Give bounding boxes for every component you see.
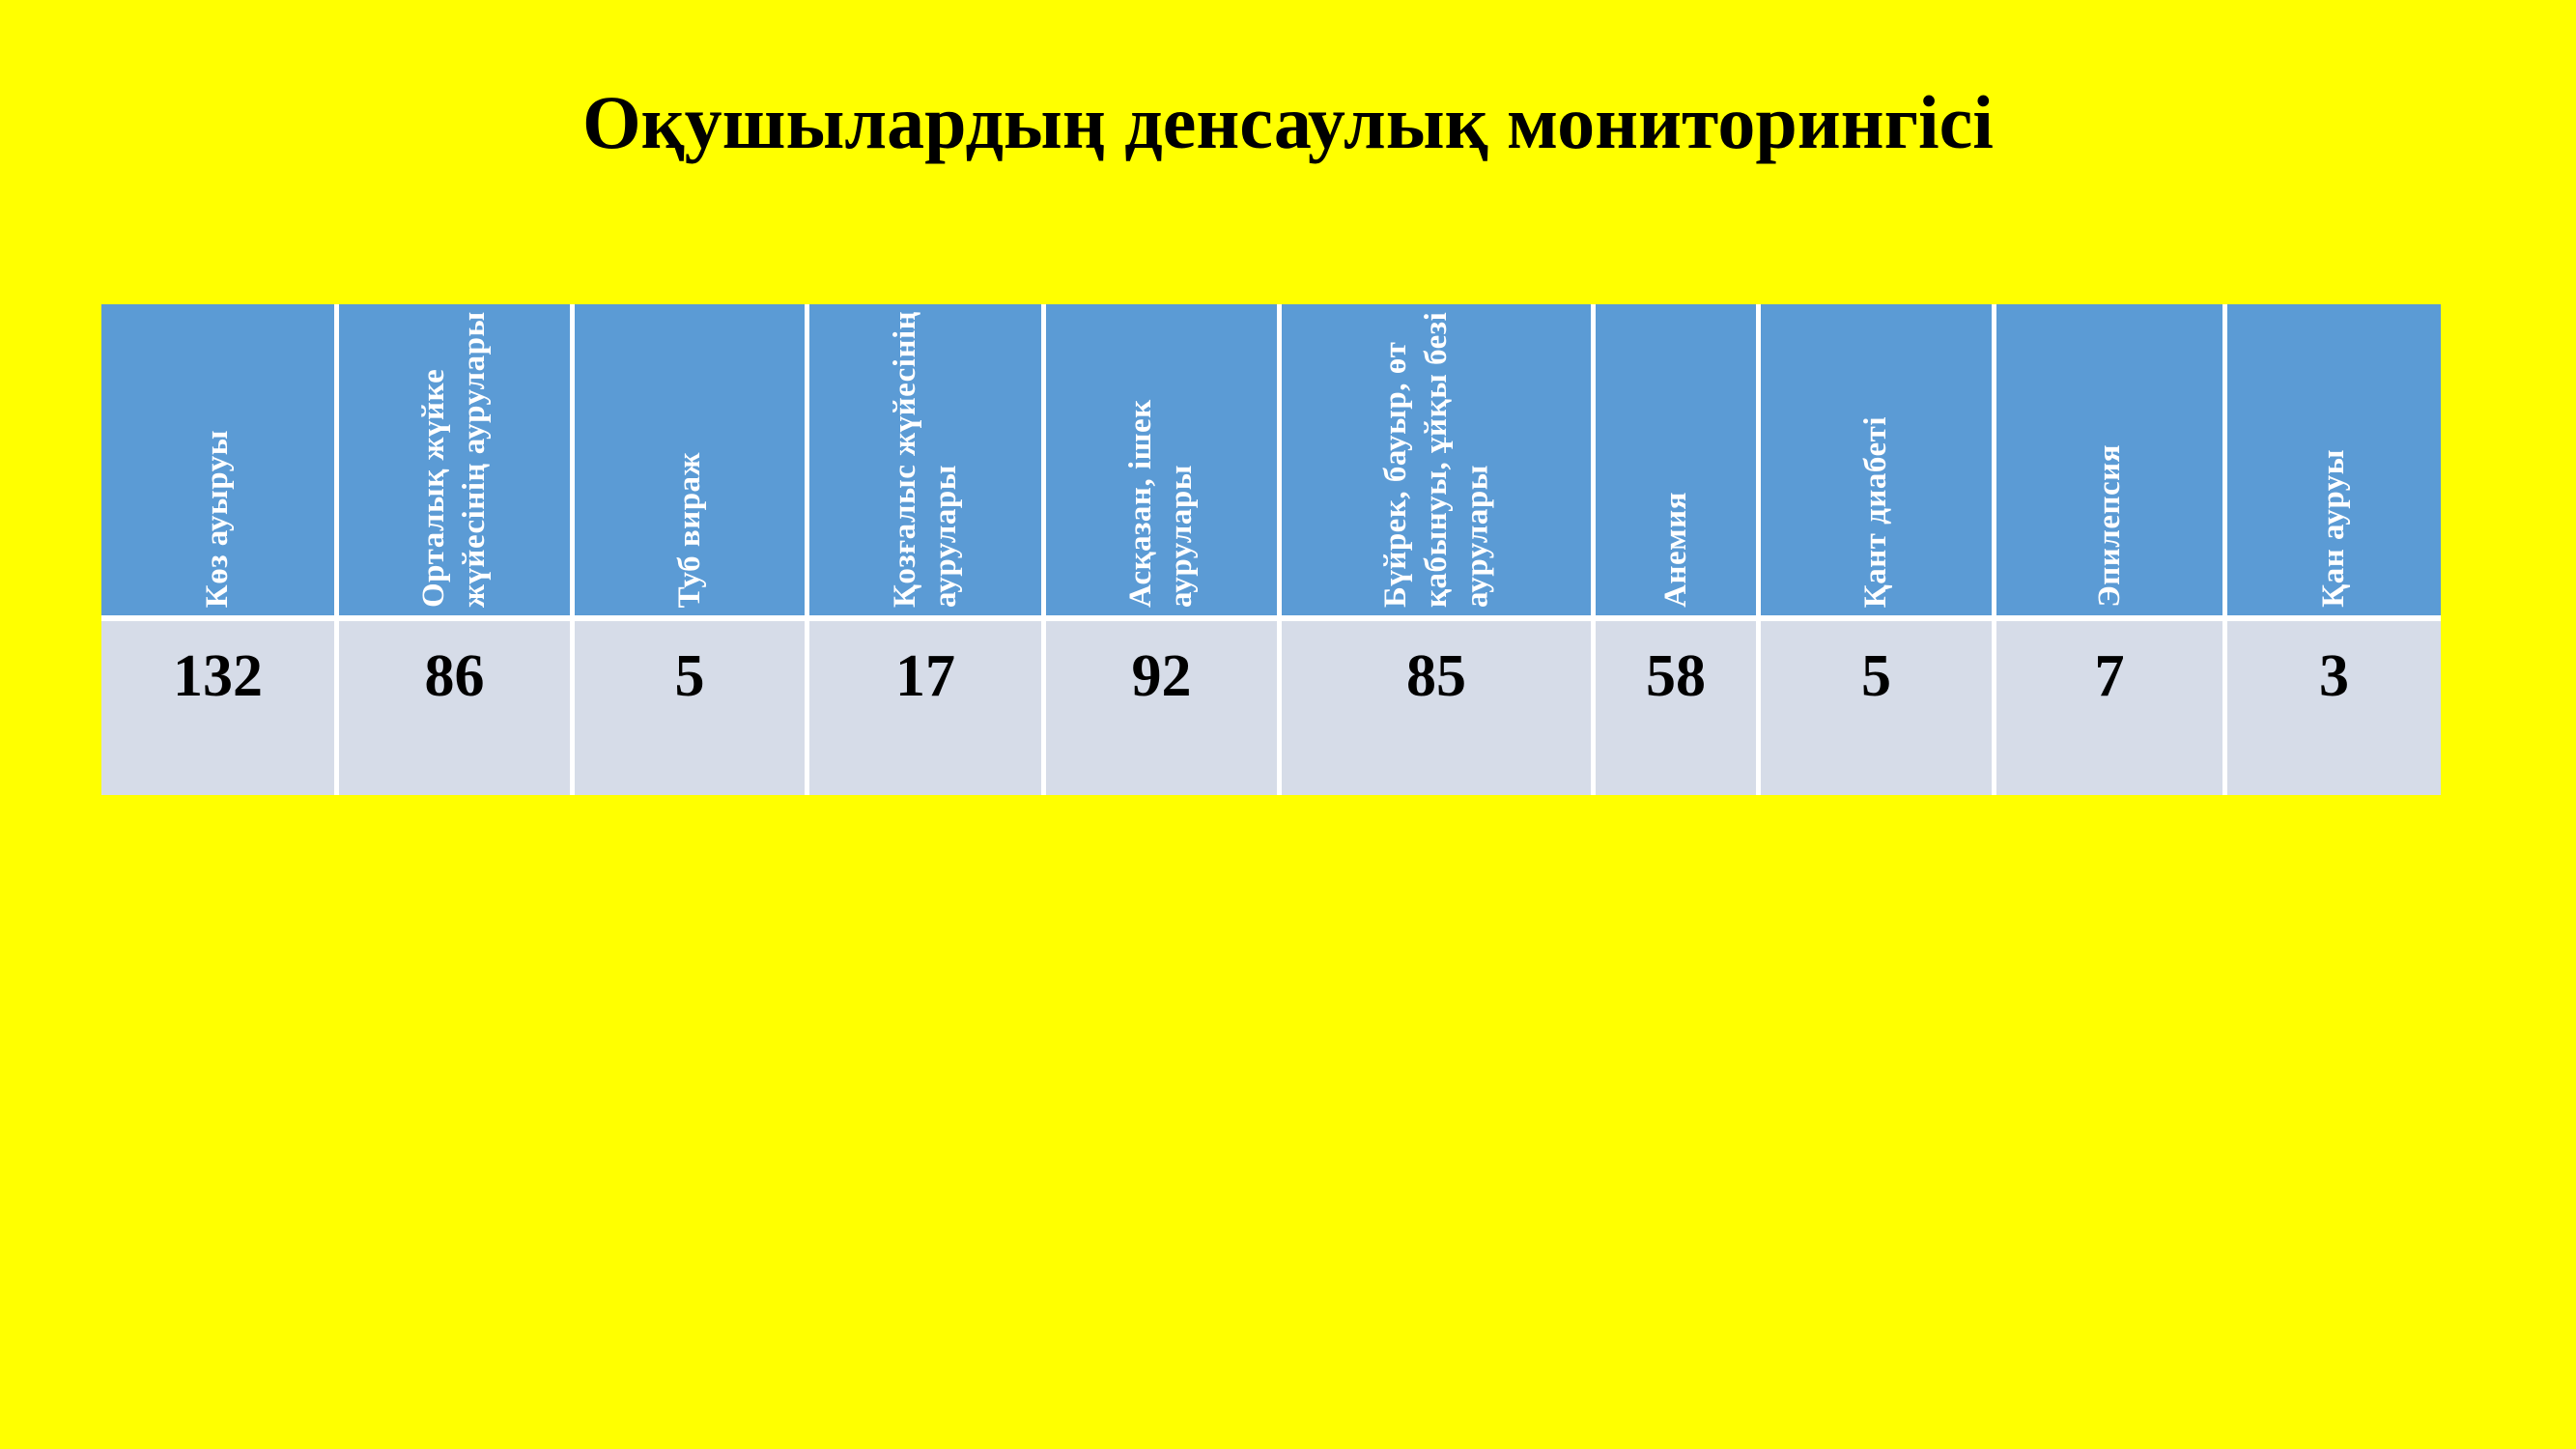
column-header-label-9: Қан ауруы <box>2313 449 2354 608</box>
vertical-label-wrap-3: Қозғалыс жүйесінің аурулары <box>809 304 1041 615</box>
vertical-label-wrap-2: Туб вираж <box>575 304 805 615</box>
vertical-label-wrap-1: Орталық жүйке жүйесінің аурулары <box>339 304 570 615</box>
column-header-5: Бүйрек, бауыр, өт қабынуы, ұйқы безі аур… <box>1282 304 1596 621</box>
column-header-label-6: Анемия <box>1656 492 1696 608</box>
vertical-label-wrap-5: Бүйрек, бауыр, өт қабынуы, ұйқы безі аур… <box>1282 304 1591 615</box>
column-header-6: Анемия <box>1596 304 1761 621</box>
table-header-row: Көз ауыруы Орталық жүйке жүйесінің аурул… <box>101 304 2441 621</box>
column-header-4: Асқазан, ішек аурулары <box>1046 304 1282 621</box>
column-header-9: Қан ауруы <box>2227 304 2441 621</box>
column-header-label-2: Туб вираж <box>669 452 710 608</box>
cell-value-7: 5 <box>1761 621 1996 795</box>
column-header-label-3: Қозғалыс жүйесінің аурулары <box>885 308 966 608</box>
column-header-8: Эпилепсия <box>1996 304 2227 621</box>
cell-value-8: 7 <box>1996 621 2227 795</box>
cell-value-4: 92 <box>1046 621 1282 795</box>
column-header-2: Туб вираж <box>575 304 809 621</box>
cell-value-3: 17 <box>809 621 1046 795</box>
column-header-label-4: Асқазан, ішек аурулары <box>1120 308 1202 608</box>
column-header-label-1: Орталық жүйке жүйесінің аурулары <box>413 308 495 608</box>
vertical-label-wrap-8: Эпилепсия <box>1996 304 2222 615</box>
cell-value-2: 5 <box>575 621 809 795</box>
page-title: Оқушылардың денсаулық мониторингісі <box>0 83 2576 162</box>
vertical-label-wrap-0: Көз ауыруы <box>101 304 334 615</box>
health-monitoring-table: Көз ауыруы Орталық жүйке жүйесінің аурул… <box>101 304 2441 795</box>
cell-value-1: 86 <box>339 621 575 795</box>
vertical-label-wrap-6: Анемия <box>1596 304 1756 615</box>
vertical-label-wrap-7: Қант диабеті <box>1761 304 1992 615</box>
column-header-3: Қозғалыс жүйесінің аурулары <box>809 304 1046 621</box>
column-header-0: Көз ауыруы <box>101 304 339 621</box>
column-header-label-0: Көз ауыруы <box>197 430 238 608</box>
vertical-label-wrap-4: Асқазан, ішек аурулары <box>1046 304 1277 615</box>
column-header-7: Қант диабеті <box>1761 304 1996 621</box>
column-header-label-7: Қант диабеті <box>1855 416 1896 608</box>
cell-value-6: 58 <box>1596 621 1761 795</box>
cell-value-5: 85 <box>1282 621 1596 795</box>
cell-value-9: 3 <box>2227 621 2441 795</box>
cell-value-0: 132 <box>101 621 339 795</box>
column-header-label-5: Бүйрек, бауыр, өт қабынуы, ұйқы безі аур… <box>1375 308 1498 608</box>
vertical-label-wrap-9: Қан ауруы <box>2227 304 2441 615</box>
column-header-label-8: Эпилепсия <box>2089 444 2130 608</box>
table-row: 132 86 5 17 92 85 58 5 7 3 <box>101 621 2441 795</box>
column-header-1: Орталық жүйке жүйесінің аурулары <box>339 304 575 621</box>
